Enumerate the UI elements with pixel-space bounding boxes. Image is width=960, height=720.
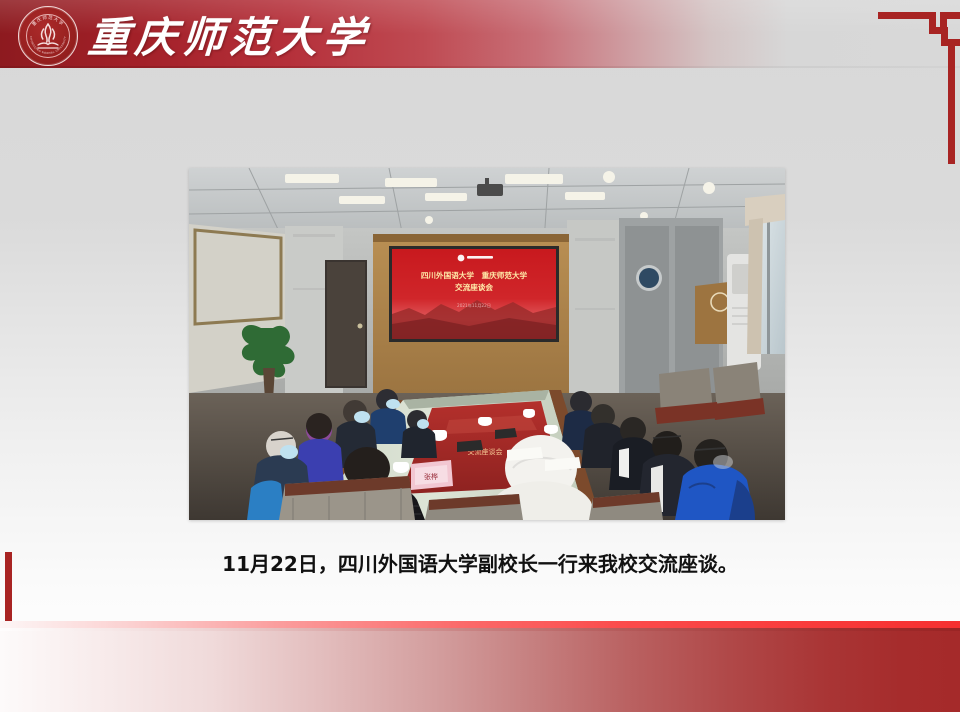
- footer-white-strip: [0, 712, 960, 720]
- university-name-text: 重庆师范大学: [86, 4, 372, 65]
- svg-text:交流座谈会: 交流座谈会: [455, 282, 493, 292]
- svg-text:2021年11月22日: 2021年11月22日: [457, 302, 491, 309]
- slide: 重庆师范大学 CHONGQING NORMAL UNIVERSITY: [0, 0, 960, 720]
- header-divider: [0, 66, 960, 68]
- footer-accent-line: [0, 621, 960, 628]
- page-title: 重庆师范大学: [88, 3, 370, 65]
- header-band: 重庆师范大学 CHONGQING NORMAL UNIVERSITY: [0, 0, 960, 68]
- corner-ornament-top-right-icon: [860, 4, 960, 164]
- footer-band-highlight: [0, 628, 960, 631]
- meeting-photo: 四川外国语大学 重庆师范大学 交流座谈会 2021年11月22日: [189, 168, 785, 520]
- photo-caption: 11月22日，四川外国语大学副校长一行来我校交流座谈。: [0, 548, 960, 577]
- meeting-photo-illustration: 四川外国语大学 重庆师范大学 交流座谈会 2021年11月22日: [189, 168, 785, 520]
- logo-emblem-icon: 重庆师范大学 CHONGQING NORMAL UNIVERSITY: [19, 7, 77, 65]
- footer-band: [0, 628, 960, 712]
- university-logo: 重庆师范大学 CHONGQING NORMAL UNIVERSITY: [18, 6, 78, 66]
- photo-frame: 四川外国语大学 重庆师范大学 交流座谈会 2021年11月22日: [189, 168, 785, 520]
- svg-text:四川外国语大学 重庆师范大学: 四川外国语大学 重庆师范大学: [421, 270, 528, 280]
- svg-text:重庆师范大学: 重庆师范大学: [30, 14, 65, 28]
- photo-caption-text: 11月22日，四川外国语大学副校长一行来我校交流座谈。: [222, 552, 738, 576]
- svg-text:张桦: 张桦: [424, 472, 438, 481]
- svg-text:CHONGQING NORMAL UNIVERSITY: CHONGQING NORMAL UNIVERSITY: [29, 36, 67, 55]
